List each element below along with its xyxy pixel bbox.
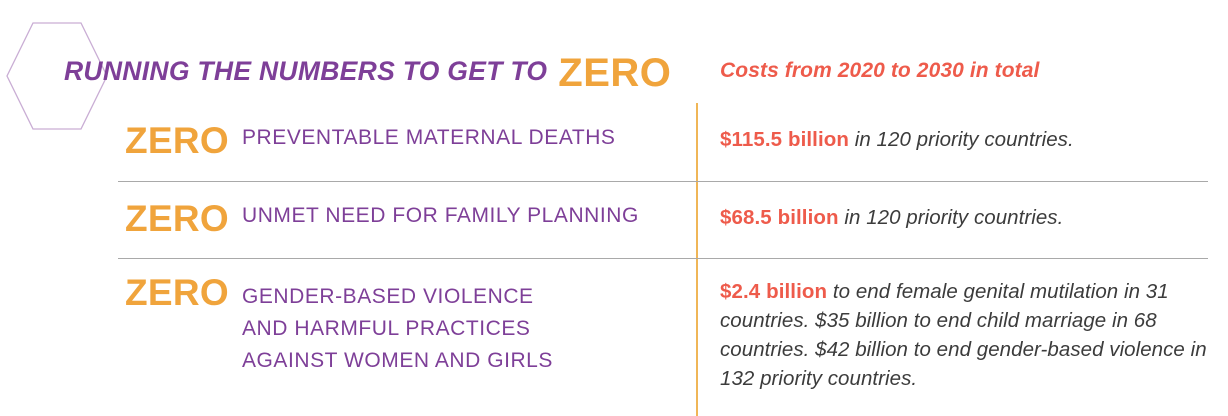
goals-table: ZERO PREVENTABLE MATERNAL DEATHS $115.5 … bbox=[0, 103, 1228, 416]
goal-cell: ZERO UNMET NEED FOR FAMILY PLANNING bbox=[125, 200, 685, 238]
goal-cell: ZERO GENDER-BASED VIOLENCE AND HARMFUL P… bbox=[125, 274, 685, 377]
cost-text: $68.5 billion in 120 priority countries. bbox=[720, 203, 1210, 232]
cost-detail: in 120 priority countries. bbox=[849, 128, 1074, 151]
costs-column-heading: Costs from 2020 to 2030 in total bbox=[720, 42, 1039, 100]
header-band: RUNNING THE NUMBERS TO GET TO ZERO Costs… bbox=[0, 42, 1228, 100]
page-title-lead: RUNNING THE NUMBERS TO GET TO bbox=[64, 56, 547, 87]
zero-word: ZERO bbox=[125, 122, 229, 160]
goal-label-line: AGAINST WOMEN AND GIRLS bbox=[242, 345, 685, 377]
goal-label-line: GENDER-BASED VIOLENCE bbox=[242, 281, 685, 313]
cost-amount: $68.5 billion bbox=[720, 206, 839, 229]
goal-label-line: AND HARMFUL PRACTICES bbox=[242, 313, 685, 345]
cost-detail: in 120 priority countries. bbox=[839, 206, 1064, 229]
cost-amount: $115.5 billion bbox=[720, 128, 849, 151]
goal-label: UNMET NEED FOR FAMILY PLANNING bbox=[242, 200, 685, 232]
zero-word: ZERO bbox=[125, 274, 229, 312]
goal-label: GENDER-BASED VIOLENCE AND HARMFUL PRACTI… bbox=[242, 274, 685, 377]
goal-label: PREVENTABLE MATERNAL DEATHS bbox=[242, 122, 685, 154]
table-row: ZERO GENDER-BASED VIOLENCE AND HARMFUL P… bbox=[0, 258, 1228, 416]
page-title-zero: ZERO bbox=[558, 51, 671, 96]
goal-cell: ZERO PREVENTABLE MATERNAL DEATHS bbox=[125, 122, 685, 160]
cost-text: $2.4 billion to end female genital mutil… bbox=[720, 277, 1210, 393]
page-title: RUNNING THE NUMBERS TO GET TO ZERO bbox=[64, 42, 671, 100]
goal-label-line: UNMET NEED FOR FAMILY PLANNING bbox=[242, 200, 685, 232]
table-row: ZERO PREVENTABLE MATERNAL DEATHS $115.5 … bbox=[0, 103, 1228, 181]
cost-amount: $2.4 billion bbox=[720, 280, 827, 303]
table-row: ZERO UNMET NEED FOR FAMILY PLANNING $68.… bbox=[0, 181, 1228, 258]
cost-cell: $2.4 billion to end female genital mutil… bbox=[720, 277, 1210, 393]
cost-text: $115.5 billion in 120 priority countries… bbox=[720, 125, 1210, 154]
zero-word: ZERO bbox=[125, 200, 229, 238]
cost-cell: $115.5 billion in 120 priority countries… bbox=[720, 125, 1210, 154]
cost-cell: $68.5 billion in 120 priority countries. bbox=[720, 203, 1210, 232]
goal-label-line: PREVENTABLE MATERNAL DEATHS bbox=[242, 122, 685, 154]
